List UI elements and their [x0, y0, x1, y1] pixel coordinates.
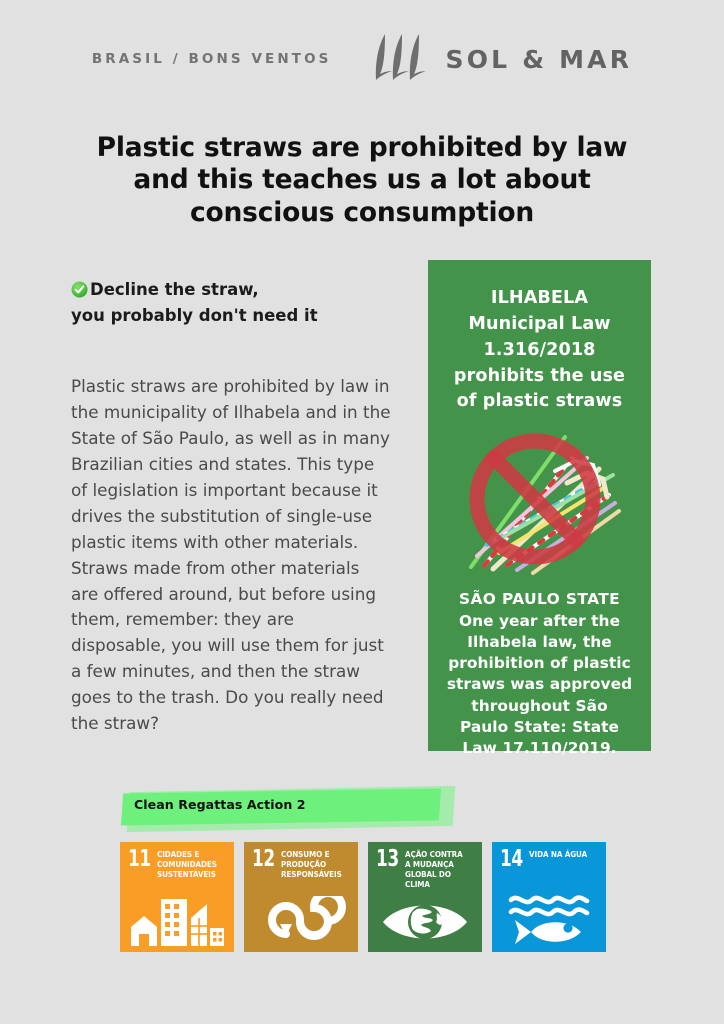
green-check-circle-icon: [71, 281, 88, 304]
eye-globe-icon: [368, 890, 482, 946]
page-title: Plastic straws are prohibited by law and…: [62, 132, 662, 229]
banner-label: Clean Regattas Action 2: [134, 797, 306, 812]
law-info-card: ILHABELA Municipal Law 1.316/2018 prohib…: [428, 260, 651, 751]
infinity-loop-arrow-icon: [244, 890, 358, 946]
page-title-line-2: and this teaches us a lot about: [62, 164, 662, 196]
sdg-card-12-name: CONSUMO E PRODUÇÃO RESPONSÁVEIS: [281, 849, 343, 879]
sdg-card-14-name: VIDA NA ÁGUA: [529, 849, 591, 859]
card-heading: ILHABELA Municipal Law 1.316/2018 prohib…: [446, 286, 633, 415]
sdg-card-13-header: 13 AÇÃO CONTRA A MUDANÇA GLOBAL DO CLIMA: [376, 849, 475, 889]
card-subsection: SÃO PAULO STATE One year after the Ilhab…: [446, 589, 633, 759]
no-plastic-straws-prohibition-sign: [447, 425, 632, 577]
brand-name: SOL & MAR: [446, 45, 633, 74]
page-header: BRASIL / BONS VENTOS SOL & MAR: [0, 28, 724, 90]
page-title-line-3: conscious consumption: [62, 197, 662, 229]
sdg-card-11-name: CIDADES E COMUNIDADES SUSTENTÁVEIS: [157, 849, 219, 879]
sdg-card-12-header: 12 CONSUMO E PRODUÇÃO RESPONSÁVEIS: [252, 849, 351, 879]
sdg-card-11-header: 11 CIDADES E COMUNIDADES SUSTENTÁVEIS: [128, 849, 227, 879]
sdg-card-12-number: 12: [252, 849, 275, 870]
sdg-card-14[interactable]: 14 VIDA NA ÁGUA: [492, 842, 606, 952]
sdg-card-11-number: 11: [128, 849, 151, 870]
sdg-card-13[interactable]: 13 AÇÃO CONTRA A MUDANÇA GLOBAL DO CLIMA: [368, 842, 482, 952]
sdg-card-11[interactable]: 11 CIDADES E COMUNIDADES SUSTENTÁVEIS: [120, 842, 234, 952]
sdg-card-14-header: 14 VIDA NA ÁGUA: [500, 849, 599, 870]
card-subheading-title: SÃO PAULO STATE: [446, 589, 633, 610]
lede-line-1: Decline the straw,: [71, 278, 401, 304]
fish-waves-icon: [492, 890, 606, 946]
lede-callout: Decline the straw, you probably don't ne…: [71, 278, 401, 328]
sdg-card-14-number: 14: [500, 849, 523, 870]
poster-page: BRASIL / BONS VENTOS SOL & MAR Plastic s…: [0, 0, 724, 1024]
sdg-card-12[interactable]: 12 CONSUMO E PRODUÇÃO RESPONSÁVEIS: [244, 842, 358, 952]
lede-text-1: Decline the straw,: [90, 280, 259, 299]
lede-line-2: you probably don't need it: [71, 304, 401, 327]
action-banner: Clean Regattas Action 2: [122, 788, 458, 832]
sdg-card-13-name: AÇÃO CONTRA A MUDANÇA GLOBAL DO CLIMA: [405, 849, 467, 889]
body-paragraph: Plastic straws are prohibited by law in …: [71, 374, 391, 737]
header-tagline: BRASIL / BONS VENTOS: [92, 51, 332, 67]
card-subheading-body: One year after the Ilhabela law, the pro…: [446, 611, 633, 760]
sdg-goals-row: 11 CIDADES E COMUNIDADES SUSTENTÁVEIS: [120, 842, 616, 952]
page-title-line-1: Plastic straws are prohibited by law: [62, 132, 662, 164]
city-buildings-icon: [120, 890, 234, 946]
sdg-card-13-number: 13: [376, 849, 399, 870]
three-sails-icon: [354, 33, 428, 85]
